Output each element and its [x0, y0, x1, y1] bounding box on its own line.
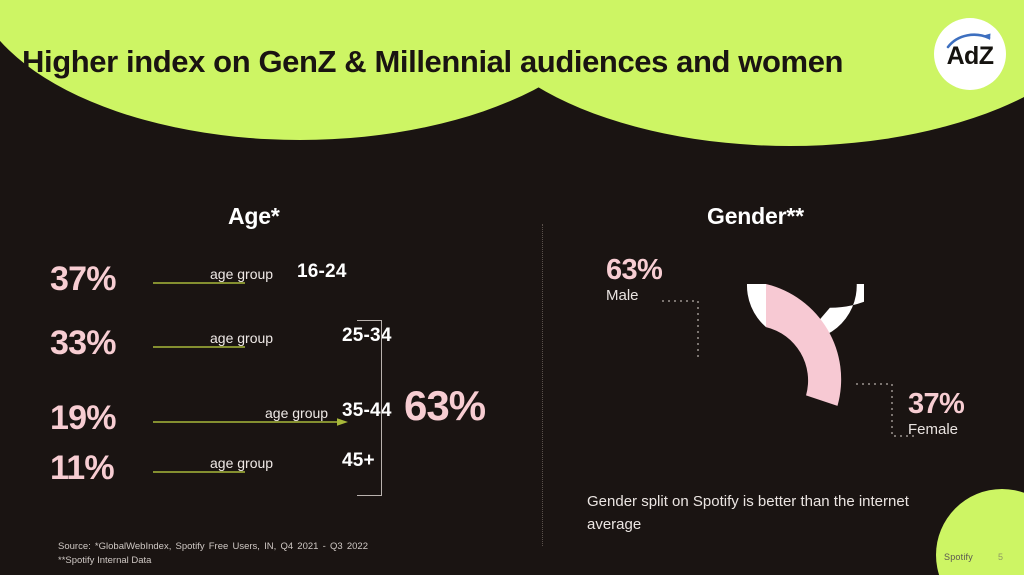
- age-range-label: 25-34: [342, 325, 392, 347]
- age-row: 33% age group 25-34: [50, 321, 380, 369]
- age-row: 19% age group 35-44: [50, 396, 380, 444]
- section-divider: [542, 224, 543, 546]
- age-section-title: Age*: [228, 203, 280, 230]
- gender-section-title: Gender**: [707, 203, 804, 230]
- donut-slice-female: [766, 284, 841, 406]
- age-row: 37% age group 16-24: [50, 257, 380, 305]
- slide-canvas: Higher index on GenZ & Millennial audien…: [0, 0, 1024, 575]
- age-range-label: 16-24: [297, 261, 347, 283]
- header-scallop-shape: [0, 0, 1024, 170]
- page-title: Higher index on GenZ & Millennial audien…: [22, 44, 922, 80]
- age-percent: 11%: [50, 446, 146, 490]
- age-group-label: age group: [210, 330, 273, 346]
- age-percent: 37%: [50, 257, 146, 301]
- male-label: Male: [606, 286, 662, 306]
- male-percent: 63%: [606, 254, 662, 286]
- gender-caption: Gender split on Spotify is better than t…: [587, 491, 937, 536]
- age-bracket-total: 63%: [404, 382, 485, 430]
- adz-logo-text: AdZ: [947, 42, 994, 71]
- source-note: Source: *GlobalWebIndex, Spotify Free Us…: [58, 540, 368, 568]
- page-number: 5: [998, 552, 1003, 562]
- age-group-label: age group: [210, 266, 273, 282]
- adz-logo[interactable]: AdZ: [934, 18, 1006, 90]
- female-label: Female: [908, 420, 964, 440]
- female-percent: 37%: [908, 388, 964, 420]
- age-group-label: age group: [265, 405, 328, 421]
- age-row: 11% age group 45+: [50, 446, 380, 494]
- gender-donut-chart: [668, 284, 864, 480]
- corner-accent-circle: [936, 489, 1024, 575]
- age-percent: 19%: [50, 396, 146, 440]
- male-callout: 63% Male: [606, 254, 662, 306]
- age-range-label: 45+: [342, 450, 375, 472]
- age-group-label: age group: [210, 455, 273, 471]
- female-callout: 37% Female: [908, 388, 964, 440]
- donut-svg: [668, 284, 864, 480]
- age-percent: 33%: [50, 321, 146, 365]
- age-range-label: 35-44: [342, 400, 392, 422]
- brand-mark: Spotify: [944, 552, 973, 562]
- header-band: [0, 0, 1024, 170]
